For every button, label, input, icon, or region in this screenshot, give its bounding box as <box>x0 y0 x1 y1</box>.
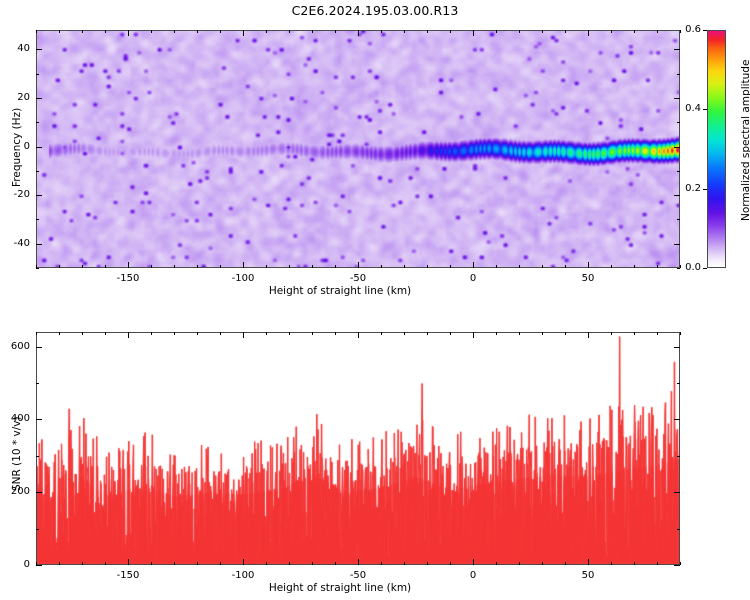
snr-x-minortick <box>542 332 543 335</box>
snr-x-minortick <box>105 562 106 565</box>
snr-y-minortick <box>36 456 39 457</box>
snr-x-minortick <box>128 562 129 565</box>
snr-x-minortick <box>289 562 290 565</box>
spectrogram-y-minortick <box>677 195 680 196</box>
snr-x-minortick <box>588 332 589 335</box>
spectrogram-y-minortick <box>36 219 39 220</box>
spectrogram-y-minortick <box>677 171 680 172</box>
spectrogram-x-minortick <box>151 30 152 33</box>
spectrogram-y-minortick <box>677 122 680 123</box>
snr-x-minortick <box>220 332 221 335</box>
snr-x-minortick <box>151 332 152 335</box>
snr-x-minortick <box>634 562 635 565</box>
spectrogram-y-minortick <box>36 98 39 99</box>
snr-x-minortick <box>473 332 474 335</box>
snr-x-minortick <box>197 332 198 335</box>
spectrogram-y-minortick <box>36 268 39 269</box>
colorbar-tick <box>703 109 707 110</box>
spectrogram-x-minortick <box>312 265 313 268</box>
snr-x-axis-label: Height of straight line (km) <box>0 582 680 594</box>
spectrogram-x-minortick <box>289 30 290 33</box>
spectrogram-x-minortick <box>197 30 198 33</box>
spectrogram-x-ticklabel: -50 <box>344 273 372 284</box>
snr-y-minortick <box>677 529 680 530</box>
spectrogram-x-ticklabel: -150 <box>114 273 142 284</box>
snr-x-minortick <box>427 562 428 565</box>
spectrogram-y-minortick <box>677 244 680 245</box>
spectrogram-x-minortick <box>289 265 290 268</box>
spectrogram-x-minortick <box>335 265 336 268</box>
snr-x-minortick <box>680 562 681 565</box>
figure-title: C2E6.2024.195.03.00.R13 <box>0 3 750 18</box>
spectrogram-x-minortick <box>358 30 359 33</box>
spectrogram-x-ticklabel: 50 <box>574 273 602 284</box>
spectrogram-x-minortick <box>542 265 543 268</box>
spectrogram-y-ticklabel: 40 <box>0 43 30 54</box>
snr-x-minortick <box>565 562 566 565</box>
spectrogram-x-minortick <box>358 265 359 268</box>
spectrogram-image <box>37 31 679 267</box>
spectrogram-y-minortick <box>36 147 39 148</box>
spectrogram-x-minortick <box>220 265 221 268</box>
snr-x-minortick <box>680 332 681 335</box>
snr-x-minortick <box>473 562 474 565</box>
spectrogram-x-minortick <box>243 265 244 268</box>
snr-x-ticklabel: 50 <box>574 570 602 581</box>
spectrogram-y-minortick <box>36 74 39 75</box>
spectrogram-y-minortick <box>677 49 680 50</box>
spectrogram-x-minortick <box>82 265 83 268</box>
snr-x-ticklabel: 0 <box>459 570 487 581</box>
snr-x-minortick <box>381 332 382 335</box>
spectrogram-x-minortick <box>519 265 520 268</box>
spectrogram-x-minortick <box>36 30 37 33</box>
snr-x-ticklabel: -100 <box>229 570 257 581</box>
snr-x-minortick <box>611 562 612 565</box>
colorbar-ticklabel: 0.0 <box>669 262 701 273</box>
spectrogram-x-minortick <box>312 30 313 33</box>
colorbar-ticklabel: 0.2 <box>669 183 701 194</box>
spectrogram-x-minortick <box>128 265 129 268</box>
snr-x-minortick <box>657 332 658 335</box>
spectrogram-x-minortick <box>634 30 635 33</box>
spectrogram-x-minortick <box>496 265 497 268</box>
spectrogram-x-minortick <box>266 30 267 33</box>
spectrogram-x-minortick <box>496 30 497 33</box>
spectrogram-x-minortick <box>59 30 60 33</box>
snr-x-minortick <box>657 562 658 565</box>
snr-x-minortick <box>611 332 612 335</box>
snr-y-ticklabel: 0 <box>0 559 30 570</box>
snr-x-minortick <box>243 562 244 565</box>
snr-x-minortick <box>496 562 497 565</box>
snr-y-minortick <box>677 565 680 566</box>
spectrogram-x-minortick <box>427 30 428 33</box>
snr-x-minortick <box>128 332 129 335</box>
snr-x-minortick <box>335 562 336 565</box>
snr-x-minortick <box>174 332 175 335</box>
spectrogram-y-minortick <box>677 74 680 75</box>
snr-x-minortick <box>266 562 267 565</box>
spectrogram-x-minortick <box>611 265 612 268</box>
snr-x-minortick <box>289 332 290 335</box>
snr-x-minortick <box>519 332 520 335</box>
spectrogram-x-minortick <box>335 30 336 33</box>
spectrogram-x-minortick <box>588 265 589 268</box>
colorbar <box>707 30 726 268</box>
snr-y-minortick <box>677 492 680 493</box>
spectrogram-x-minortick <box>542 30 543 33</box>
snr-x-minortick <box>312 332 313 335</box>
spectrogram-x-minortick <box>404 265 405 268</box>
snr-x-minortick <box>358 332 359 335</box>
spectrogram-y-minortick <box>677 219 680 220</box>
figure-root: C2E6.2024.195.03.00.R13 Frequency (Hz) H… <box>0 0 750 600</box>
spectrogram-x-minortick <box>128 30 129 33</box>
spectrogram-x-minortick <box>657 265 658 268</box>
snr-x-minortick <box>404 562 405 565</box>
snr-x-minortick <box>82 562 83 565</box>
spectrogram-x-minortick <box>243 30 244 33</box>
snr-y-ticklabel: 200 <box>0 486 30 497</box>
colorbar-ticklabel: 0.6 <box>669 24 701 35</box>
spectrogram-x-minortick <box>473 265 474 268</box>
spectrogram-x-minortick <box>473 30 474 33</box>
spectrogram-x-minortick <box>657 30 658 33</box>
colorbar-tick <box>703 268 707 269</box>
spectrogram-x-minortick <box>381 30 382 33</box>
snr-x-minortick <box>450 332 451 335</box>
spectrogram-y-ticklabel: 20 <box>0 92 30 103</box>
snr-x-minortick <box>565 332 566 335</box>
colorbar-tick <box>703 189 707 190</box>
spectrogram-x-axis-label: Height of straight line (km) <box>0 285 680 297</box>
snr-x-minortick <box>542 562 543 565</box>
snr-x-minortick <box>36 332 37 335</box>
spectrogram-x-minortick <box>82 30 83 33</box>
spectrogram-y-ticklabel: -20 <box>0 189 30 200</box>
spectrogram-x-minortick <box>611 30 612 33</box>
snr-x-minortick <box>358 562 359 565</box>
snr-x-minortick <box>381 562 382 565</box>
snr-x-minortick <box>59 332 60 335</box>
spectrogram-y-minortick <box>36 122 39 123</box>
snr-y-minortick <box>36 529 39 530</box>
snr-y-ticklabel: 600 <box>0 341 30 352</box>
snr-plot-area <box>36 332 680 565</box>
colorbar-gradient <box>708 31 725 267</box>
spectrogram-y-minortick <box>677 147 680 148</box>
spectrogram-y-minortick <box>36 49 39 50</box>
spectrogram-y-minortick <box>36 171 39 172</box>
colorbar-label: Normalized spectral amplitude <box>740 60 750 221</box>
snr-x-minortick <box>220 562 221 565</box>
spectrogram-x-minortick <box>634 265 635 268</box>
snr-y-minortick <box>36 383 39 384</box>
spectrogram-x-minortick <box>105 30 106 33</box>
spectrogram-x-minortick <box>381 265 382 268</box>
spectrogram-x-minortick <box>59 265 60 268</box>
snr-x-minortick <box>105 332 106 335</box>
snr-x-minortick <box>312 562 313 565</box>
spectrogram-x-minortick <box>105 265 106 268</box>
spectrogram-y-minortick <box>36 244 39 245</box>
spectrogram-y-minortick <box>677 98 680 99</box>
spectrogram-x-minortick <box>197 265 198 268</box>
spectrogram-x-ticklabel: -100 <box>229 273 257 284</box>
spectrogram-x-minortick <box>427 265 428 268</box>
spectrogram-x-minortick <box>450 265 451 268</box>
spectrogram-y-ticklabel: 0 <box>0 141 30 152</box>
snr-y-minortick <box>36 419 39 420</box>
snr-y-ticklabel: 400 <box>0 413 30 424</box>
snr-y-minortick <box>677 383 680 384</box>
snr-y-minortick <box>36 565 39 566</box>
spectrogram-y-minortick <box>36 195 39 196</box>
snr-x-minortick <box>519 562 520 565</box>
snr-x-ticklabel: -50 <box>344 570 372 581</box>
snr-x-minortick <box>496 332 497 335</box>
snr-x-minortick <box>82 332 83 335</box>
colorbar-ticklabel: 0.4 <box>669 103 701 114</box>
snr-y-minortick <box>677 347 680 348</box>
snr-x-minortick <box>174 562 175 565</box>
snr-x-minortick <box>335 332 336 335</box>
spectrogram-x-minortick <box>174 265 175 268</box>
snr-x-minortick <box>266 332 267 335</box>
snr-y-minortick <box>677 456 680 457</box>
spectrogram-x-minortick <box>565 265 566 268</box>
snr-x-ticklabel: -150 <box>114 570 142 581</box>
snr-x-minortick <box>197 562 198 565</box>
spectrogram-x-minortick <box>404 30 405 33</box>
snr-x-minortick <box>59 562 60 565</box>
snr-y-axis-label: SNR (10 * v/v) <box>11 416 23 491</box>
colorbar-tick <box>703 30 707 31</box>
snr-x-minortick <box>151 562 152 565</box>
spectrogram-x-minortick <box>151 265 152 268</box>
spectrogram-x-ticklabel: 0 <box>459 273 487 284</box>
spectrogram-x-minortick <box>588 30 589 33</box>
snr-x-minortick <box>404 332 405 335</box>
snr-x-minortick <box>634 332 635 335</box>
spectrogram-x-minortick <box>220 30 221 33</box>
spectrogram-x-minortick <box>565 30 566 33</box>
spectrogram-plot-area <box>36 30 680 268</box>
spectrogram-y-ticklabel: -40 <box>0 238 30 249</box>
spectrogram-x-minortick <box>174 30 175 33</box>
snr-x-minortick <box>588 562 589 565</box>
snr-x-minortick <box>243 332 244 335</box>
snr-y-minortick <box>36 492 39 493</box>
spectrogram-x-minortick <box>519 30 520 33</box>
spectrogram-x-minortick <box>450 30 451 33</box>
snr-x-minortick <box>427 332 428 335</box>
snr-trace <box>37 333 679 564</box>
spectrogram-x-minortick <box>266 265 267 268</box>
snr-y-minortick <box>677 419 680 420</box>
snr-y-minortick <box>36 347 39 348</box>
snr-x-minortick <box>450 562 451 565</box>
